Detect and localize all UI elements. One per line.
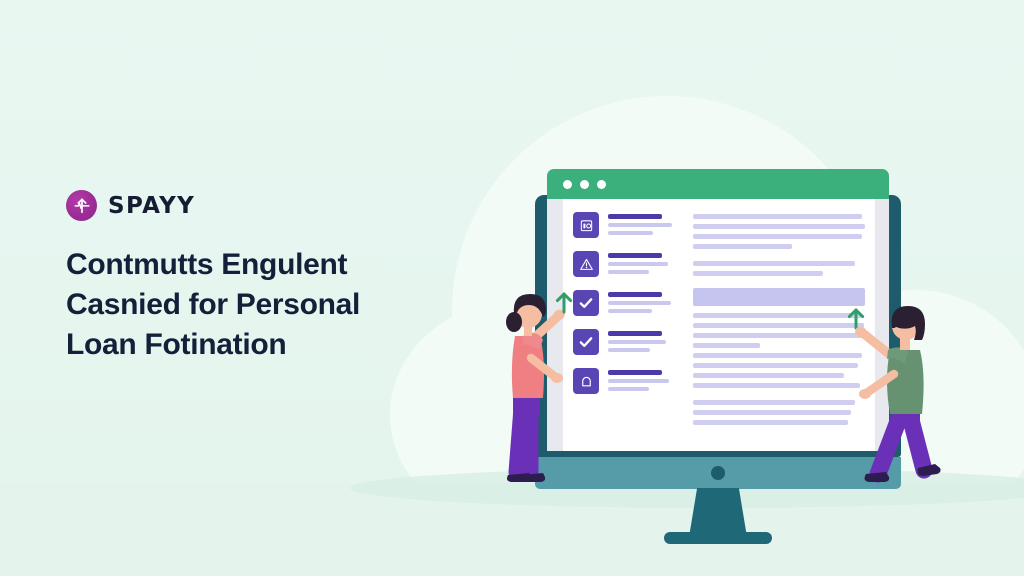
headline-line-1: Contmutts Engulent bbox=[66, 248, 347, 281]
text-line bbox=[693, 271, 823, 276]
traffic-light-minimize-icon[interactable] bbox=[580, 180, 589, 189]
text-line bbox=[693, 234, 862, 239]
item-sub-bar bbox=[608, 270, 649, 274]
text-line bbox=[693, 333, 862, 338]
traffic-light-close-icon[interactable] bbox=[563, 180, 572, 189]
hero-copy-block: SPAYY Contmutts Engulent Casnied for Per… bbox=[66, 190, 426, 366]
text-line bbox=[693, 373, 844, 378]
list-item-text bbox=[608, 290, 681, 317]
spayy-circle-arrow-logo-icon bbox=[66, 190, 97, 221]
text-line bbox=[693, 420, 848, 425]
list-item-text bbox=[608, 329, 681, 356]
text-line bbox=[693, 363, 858, 368]
headline-line-2: Casnied for Personal bbox=[66, 288, 360, 321]
text-line bbox=[693, 261, 855, 266]
item-title-bar bbox=[608, 331, 662, 336]
brand-wordmark: SPAYY bbox=[108, 193, 195, 219]
bank-icon bbox=[573, 212, 599, 238]
traffic-light-maximize-icon[interactable] bbox=[597, 180, 606, 189]
text-line bbox=[693, 244, 792, 249]
item-sub-bar bbox=[608, 379, 669, 383]
text-line bbox=[693, 383, 860, 388]
list-item-text bbox=[608, 251, 681, 278]
item-sub-bar bbox=[608, 348, 650, 352]
right-person-shoe-back bbox=[865, 472, 890, 482]
person-right bbox=[838, 288, 953, 500]
browser-titlebar bbox=[547, 169, 889, 199]
green-up-arrow-icon bbox=[849, 310, 862, 328]
item-title-bar bbox=[608, 214, 662, 219]
text-line bbox=[693, 313, 862, 318]
right-person-hand-lower bbox=[859, 389, 871, 399]
monitor-stand-neck bbox=[689, 488, 747, 537]
left-person-hand-lower bbox=[551, 373, 563, 383]
paragraph-gap bbox=[693, 254, 869, 261]
text-line bbox=[693, 400, 855, 405]
list-item[interactable] bbox=[573, 212, 681, 239]
page-content bbox=[563, 199, 875, 451]
item-sub-bar bbox=[608, 340, 666, 344]
headline-line-3: Loan Fotination bbox=[66, 328, 286, 361]
illustration-stage: SPAYY Contmutts Engulent Casnied for Per… bbox=[0, 0, 1024, 576]
list-item[interactable] bbox=[573, 251, 681, 278]
text-line bbox=[693, 343, 760, 348]
item-title-bar bbox=[608, 253, 662, 258]
list-item-text bbox=[608, 212, 681, 239]
left-person-hair-bun bbox=[506, 312, 522, 332]
text-line bbox=[693, 410, 851, 415]
person-left bbox=[484, 276, 594, 501]
paragraph-gap bbox=[693, 281, 869, 288]
monitor-stand-base bbox=[664, 532, 772, 544]
item-sub-bar bbox=[608, 301, 671, 305]
item-sub-bar bbox=[608, 231, 653, 235]
item-sub-bar bbox=[608, 223, 672, 227]
page-title: Contmutts Engulent Casnied for Personal … bbox=[66, 245, 426, 366]
green-up-arrow-icon bbox=[557, 294, 570, 312]
text-line bbox=[693, 224, 865, 229]
text-line bbox=[693, 353, 862, 358]
item-sub-bar bbox=[608, 387, 649, 391]
brand-logo[interactable]: SPAYY bbox=[66, 190, 426, 221]
item-title-bar bbox=[608, 370, 662, 375]
warning-triangle-icon bbox=[573, 251, 599, 277]
power-dot-icon bbox=[711, 466, 725, 480]
item-sub-bar bbox=[608, 309, 652, 313]
text-line bbox=[693, 214, 862, 219]
item-sub-bar bbox=[608, 262, 668, 266]
item-title-bar bbox=[608, 292, 662, 297]
list-item-text bbox=[608, 368, 681, 395]
